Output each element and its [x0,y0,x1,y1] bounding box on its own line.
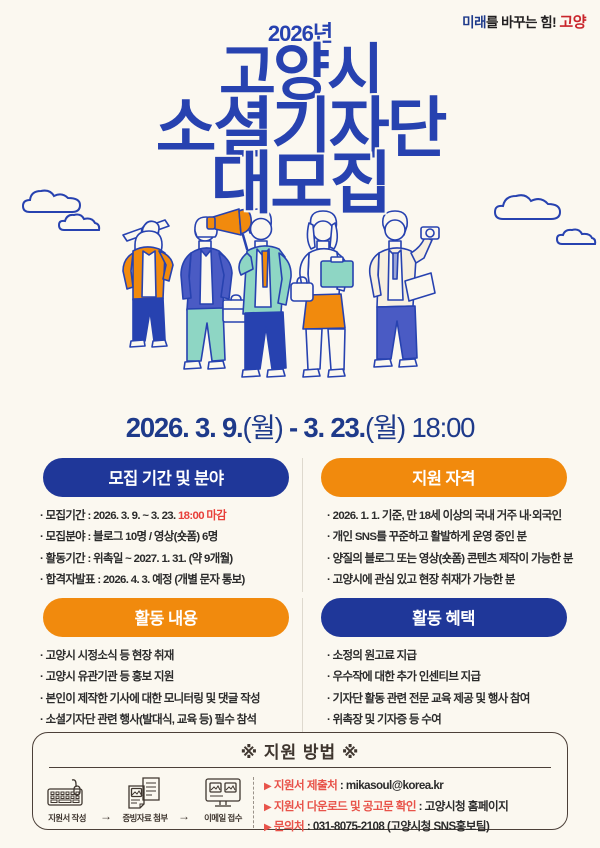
date-time: 18:00 [405,412,474,443]
people-illustration [95,195,505,395]
keyboard-icon [39,775,95,811]
date-end-day: (월) [365,412,405,443]
section-recruit-period: 모집 기간 및 분야 모집기간 : 2026. 3. 9. ~ 3. 23. 1… [30,458,302,592]
date-start-day: (월) [243,412,283,443]
date-start: 2026. 3. 9. [126,412,243,443]
poster-root: 미래를 바꾸는 힘! 고양 2026년 고양시 소셜기자단 대모집 [0,0,600,848]
apply-step-3: 이메일 접수 [195,775,251,824]
person-suit-briefcase [181,217,249,369]
divider [253,777,254,828]
list-item: 우수작에 대한 추가 인센티브 지급 [327,667,570,688]
section-qualification: 지원 자격 2026. 1. 1. 기준, 만 18세 이상의 국내 거주 내·… [302,458,570,592]
deadline-highlight: 18:00 마감 [178,510,226,522]
apply-step-2: 증빙자료 첨부 [117,775,173,824]
list-item: 고양시 유관기관 등 홍보 지원 [40,667,302,688]
section-list-benefits: 소정의 원고료 지급 우수작에 대한 추가 인센티브 지급 기자단 활동 관련 … [317,646,570,732]
section-header-qualification: 지원 자격 [321,458,567,497]
documents-icon [117,775,173,811]
apply-method-box: ※ 지원 방법 ※ [32,732,568,830]
contact-label: 문의처 [274,820,304,833]
triangle-icon: ▶ [264,802,271,813]
info-sections-grid: 모집 기간 및 분야 모집기간 : 2026. 3. 9. ~ 3. 23. 1… [30,458,570,732]
contact-value: : 고양시청 홈페이지 [416,800,508,813]
apply-step-1-caption: 지원서 작성 [39,812,95,824]
section-header-recruit-period: 모집 기간 및 분야 [43,458,289,497]
list-item: 소정의 원고료 지급 [327,646,570,667]
person-camera [370,211,439,367]
contact-inquiry: ▶ 문의처 : 031-8075-2108 (고양시청 SNS홍보팀) [264,817,567,837]
list-item: 개인 SNS를 꾸준하고 활발하게 운영 중인 분 [327,527,570,548]
list-item: 양질의 블로그 또는 영상(숏폼) 콘텐츠 제작이 가능한 분 [327,549,570,570]
contact-value: : mikasoul@korea.kr [337,779,443,792]
section-benefits: 활동 혜택 소정의 원고료 지급 우수작에 대한 추가 인센티브 지급 기자단 … [302,598,570,732]
title-line-3: 대모집 [0,153,600,216]
arrow-icon: → [178,775,190,823]
apply-contacts: ▶ 지원서 제출처 : mikasoul@korea.kr ▶ 지원서 다운로드… [264,775,567,832]
section-list-recruit-period: 모집기간 : 2026. 3. 9. ~ 3. 23. 18:00 마감 모집분… [30,506,302,592]
list-item: 2026. 1. 1. 기준, 만 18세 이상의 국내 거주 내·외국인 [327,506,570,527]
poster-title-block: 2026년 고양시 소셜기자단 대모집 [0,22,600,215]
section-list-qualification: 2026. 1. 1. 기준, 만 18세 이상의 국내 거주 내·외국인 개인… [317,506,570,592]
apply-method-title: ※ 지원 방법 ※ [33,733,567,763]
triangle-icon: ▶ [264,781,271,792]
list-item-text: 모집기간 : 2026. 3. 9. ~ 3. 23. [46,510,178,522]
list-item: 기자단 활동 관련 전문 교육 제공 및 행사 참여 [327,689,570,710]
section-list-activities: 고양시 시정소식 등 현장 취재 고양시 유관기관 등 홍보 지원 본인이 제작… [30,646,302,732]
date-dash: - [283,412,304,443]
person-telescope [123,220,173,347]
apply-step-1: 지원서 작성 [39,775,95,824]
recruitment-date-line: 2026. 3. 9.(월) - 3. 23.(월) 18:00 [0,405,600,445]
contact-value: : 031-8075-2108 (고양시청 SNS홍보팀) [304,820,489,833]
list-item: 본인이 제작한 기사에 대한 모니터링 및 댓글 작성 [40,689,302,710]
list-item: 합격자발표 : 2026. 4. 3. 예정 (개별 문자 통보) [40,570,302,591]
apply-step-3-caption: 이메일 접수 [195,812,251,824]
list-item: 고양시에 관심 있고 현장 취재가 가능한 분 [327,570,570,591]
apply-steps: 지원서 작성 → [33,775,251,832]
contact-label: 지원서 제출처 [274,779,337,792]
list-item: 활동기간 : 위촉일 ~ 2027. 1. 31. (약 9개월) [40,549,302,570]
arrow-icon: → [100,775,112,823]
date-end: 3. 23. [303,412,365,443]
monitor-icon [195,775,251,811]
section-header-activities: 활동 내용 [43,598,289,637]
contact-submission: ▶ 지원서 제출처 : mikasoul@korea.kr [264,776,567,796]
section-header-benefits: 활동 혜택 [321,598,567,637]
cloud-icon [556,228,598,246]
list-item: 모집분야 : 블로그 10명 / 영상(숏폼) 6명 [40,527,302,548]
list-item: 모집기간 : 2026. 3. 9. ~ 3. 23. 18:00 마감 [40,506,302,527]
list-item: 위촉장 및 기자증 등 수여 [327,710,570,731]
contact-label: 지원서 다운로드 및 공고문 확인 [274,800,416,813]
apply-method-body: 지원서 작성 → [33,768,567,832]
person-clipboard [291,211,353,377]
list-item: 소셜기자단 관련 행사(발대식, 교육 등) 필수 참석 [40,710,302,731]
triangle-icon: ▶ [264,822,271,833]
contact-download: ▶ 지원서 다운로드 및 공고문 확인 : 고양시청 홈페이지 [264,797,567,817]
apply-step-2-caption: 증빙자료 첨부 [117,812,173,824]
list-item: 고양시 시정소식 등 현장 취재 [40,646,302,667]
section-activities: 활동 내용 고양시 시정소식 등 현장 취재 고양시 유관기관 등 홍보 지원 … [30,598,302,732]
